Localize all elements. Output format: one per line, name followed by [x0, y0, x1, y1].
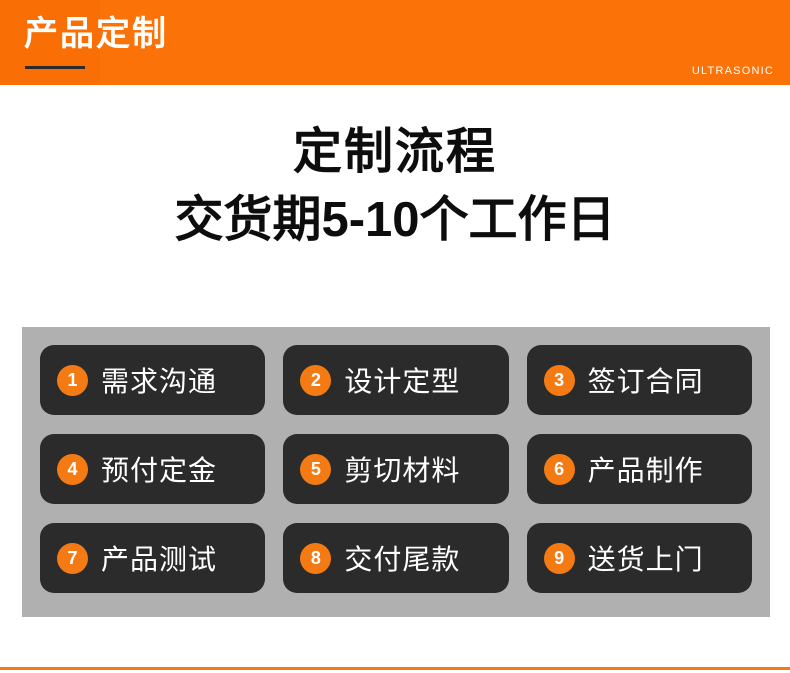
step-number-badge: 7 [57, 543, 88, 574]
process-steps-grid: 1 需求沟通 2 设计定型 3 签订合同 4 预付定金 5 剪切材料 6 产品制… [40, 345, 752, 599]
process-step-9[interactable]: 9 送货上门 [527, 523, 752, 593]
step-number-badge: 1 [57, 365, 88, 396]
brand-wordmark: ULTRASONIC [692, 65, 774, 77]
headings-block: 定制流程 交货期5-10个工作日 [0, 120, 790, 252]
step-label: 送货上门 [588, 538, 704, 578]
step-label: 需求沟通 [101, 360, 217, 400]
footer-divider [0, 667, 790, 670]
step-number-badge: 4 [57, 454, 88, 485]
step-label: 产品测试 [101, 538, 217, 578]
step-number-badge: 8 [300, 543, 331, 574]
page-header: 产品定制 ULTRASONIC [0, 0, 790, 85]
process-step-4[interactable]: 4 预付定金 [40, 434, 265, 504]
step-number-badge: 3 [544, 365, 575, 396]
title-underline [25, 66, 85, 69]
heading-secondary: 交货期5-10个工作日 [0, 188, 790, 252]
process-step-2[interactable]: 2 设计定型 [283, 345, 508, 415]
process-step-5[interactable]: 5 剪切材料 [283, 434, 508, 504]
process-step-1[interactable]: 1 需求沟通 [40, 345, 265, 415]
step-label: 交付尾款 [344, 538, 460, 578]
step-number-badge: 5 [300, 454, 331, 485]
process-step-7[interactable]: 7 产品测试 [40, 523, 265, 593]
step-label: 设计定型 [344, 360, 460, 400]
step-number-badge: 6 [544, 454, 575, 485]
process-step-3[interactable]: 3 签订合同 [527, 345, 752, 415]
heading-primary: 定制流程 [0, 120, 790, 184]
process-step-8[interactable]: 8 交付尾款 [283, 523, 508, 593]
process-steps-panel: 1 需求沟通 2 设计定型 3 签订合同 4 预付定金 5 剪切材料 6 产品制… [22, 327, 770, 617]
step-label: 签订合同 [588, 360, 704, 400]
step-number-badge: 9 [544, 543, 575, 574]
page-title: 产品定制 [24, 12, 168, 56]
process-step-6[interactable]: 6 产品制作 [527, 434, 752, 504]
step-label: 预付定金 [101, 449, 217, 489]
step-label: 剪切材料 [344, 449, 460, 489]
step-label: 产品制作 [588, 449, 704, 489]
step-number-badge: 2 [300, 365, 331, 396]
